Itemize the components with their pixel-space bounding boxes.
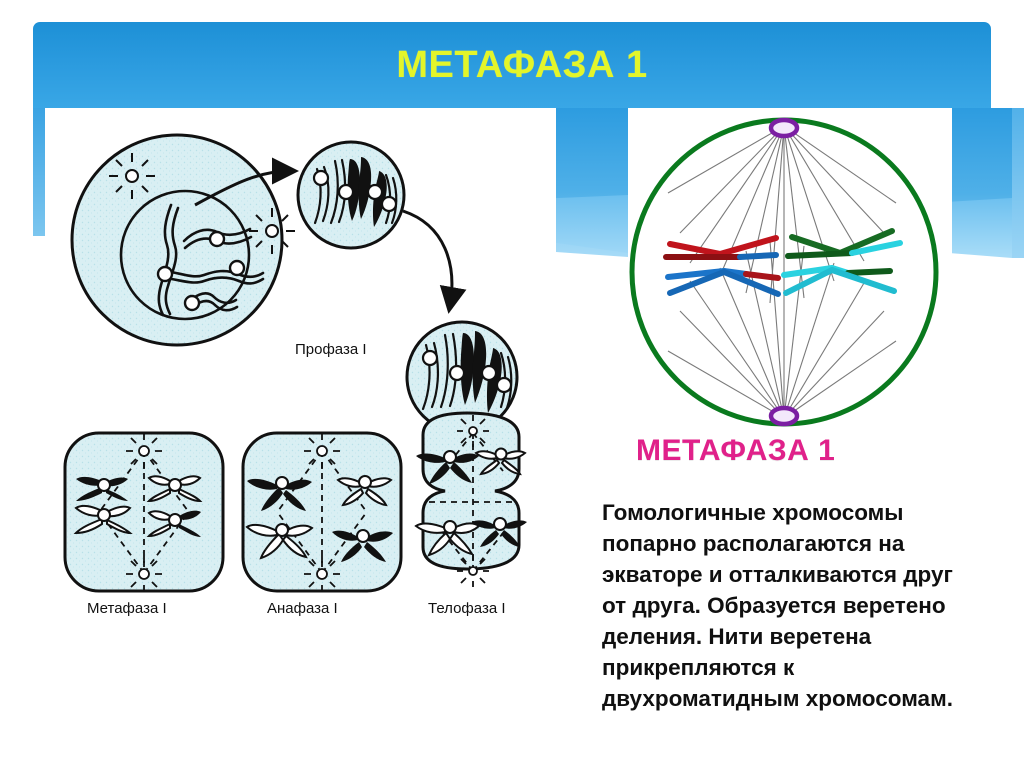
cell-metaphase-1 [65,433,223,592]
metaphase-caption: МЕТАФАЗА 1 [636,434,956,468]
cell-telophase-1 [416,413,527,587]
slide-root: МЕТАФАЗА 1 [0,0,1024,767]
chromatid-green-tip [848,271,890,273]
centrosome-bottom [771,408,797,424]
prophase-parent-cell [72,135,295,345]
cell-anaphase-1 [243,433,401,592]
decor-left-blue-bar [33,108,45,236]
decor-right-blue-bar-light [952,198,1012,258]
label-prophase-1: Профаза I [295,341,367,358]
label-metaphase-1: Метафаза I [87,600,167,617]
chromatid-blue-tip [740,255,776,257]
centrosome-top [771,120,797,136]
decor-right-edge-sliver [1012,108,1024,258]
label-anaphase-1: Анафаза I [267,600,338,617]
chromatid-darkgreen [788,253,852,256]
condensed-bivalents-cell-upper [298,142,404,248]
description-paragraph: Гомологичные хромосомы попарно располага… [602,497,954,714]
metaphase1-cell-svg [628,113,952,433]
label-telophase-1: Телофаза I [428,600,506,617]
left-illustration-panel: Профаза I Метафаза I Анафаза I Телофаза … [45,113,556,633]
arrow-to-lower-condensed [403,211,452,305]
slide-title-banner: МЕТАФАЗА 1 [33,22,991,108]
meiosis-line-drawing [45,113,556,633]
decor-middle-blue-bar-light [556,195,628,257]
chromatid-red-tip [746,274,778,278]
slide-title: МЕТАФАЗА 1 [396,44,647,87]
